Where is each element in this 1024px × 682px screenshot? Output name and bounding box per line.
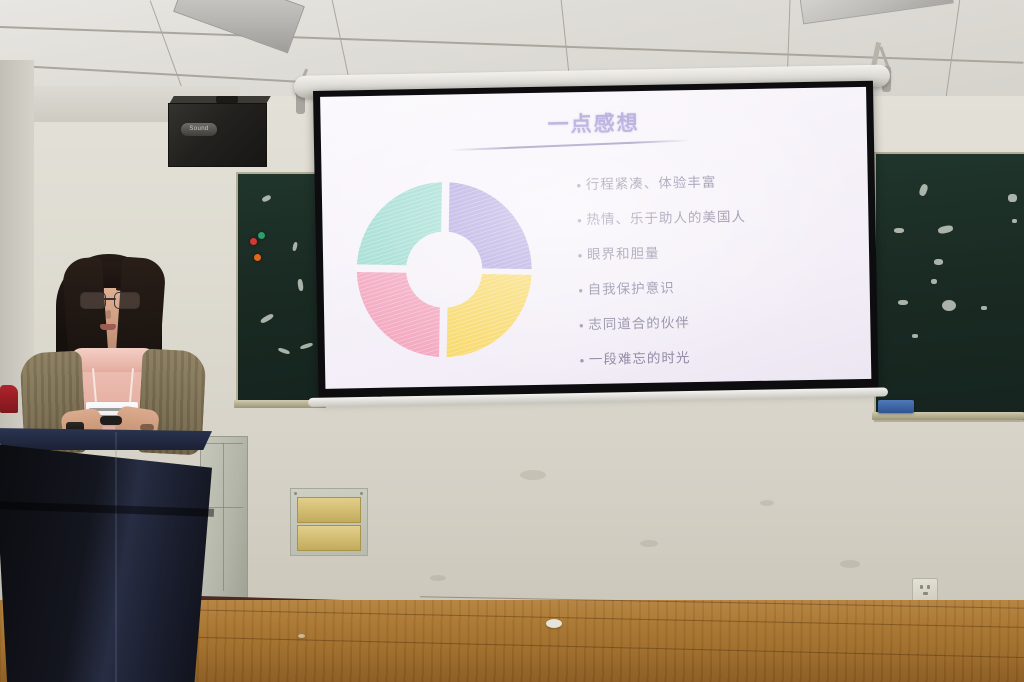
donut-segment-top-left xyxy=(355,179,443,267)
floor-seam xyxy=(120,635,1024,658)
bullet-text: 志同道合的伙伴 xyxy=(588,316,690,333)
chalk-mark xyxy=(260,313,275,324)
chalk-mark xyxy=(1012,219,1017,223)
chalk-mark xyxy=(894,228,904,233)
projection-screen-surface: 一点感想 xyxy=(320,87,871,389)
outlet-slot xyxy=(927,585,930,589)
chalk-mark xyxy=(931,279,937,284)
bullet-item: • 志同道合的伙伴 xyxy=(574,313,864,333)
chalk-mark xyxy=(918,183,929,197)
presenter-mouth xyxy=(100,324,116,330)
bullet-marker-icon: • xyxy=(572,178,586,193)
panel-screw xyxy=(294,492,297,495)
bullet-item: • 自我保护意识 xyxy=(574,278,864,298)
wall-smudge xyxy=(760,500,774,506)
donut-segment-bottom-right xyxy=(445,272,533,360)
wall-junction-box[interactable] xyxy=(290,488,368,556)
chalk-mark xyxy=(278,347,291,355)
chalk-mark xyxy=(898,300,908,305)
outlet-slot xyxy=(920,585,923,589)
donut-segment-bottom-left xyxy=(354,270,442,358)
bullet-marker-icon: • xyxy=(573,248,587,263)
bullet-marker-icon: • xyxy=(572,213,586,228)
podium-edge-highlight xyxy=(115,432,117,682)
projection-screen: 一点感想 xyxy=(313,81,879,400)
slide-bullet-list: • 行程紧凑、体验丰富 • 热情、乐于助人的美国人 • 眼界和胆量 • 自我保护… xyxy=(572,173,866,388)
chalk-mark xyxy=(261,194,271,202)
donut-chart xyxy=(348,173,541,366)
magnet-orange xyxy=(254,254,261,261)
podium xyxy=(0,444,212,682)
bullet-item: • 热情、乐于助人的美国人 xyxy=(572,208,862,228)
presenter-nose xyxy=(106,310,111,319)
board-eraser[interactable] xyxy=(878,400,914,413)
bullet-text: 热情、乐于助人的美国人 xyxy=(586,210,746,228)
bullet-item: • 眼界和胆量 xyxy=(573,243,863,263)
bullet-item: • 行程紧凑、体验丰富 xyxy=(572,173,862,193)
chalk-mark xyxy=(292,242,298,252)
speaker-mount xyxy=(216,96,238,103)
speaker-brand-badge: Sound xyxy=(181,123,217,136)
bullet-item: • 一段难忘的时光 xyxy=(575,348,865,368)
wall-smudge xyxy=(640,540,658,547)
presenter xyxy=(8,252,208,442)
chalk-mark xyxy=(981,306,987,310)
bullet-text: 行程紧凑、体验丰富 xyxy=(586,176,717,193)
classroom-presentation-scene: Sound 一点感想 xyxy=(0,0,1024,682)
chalk-mark xyxy=(1008,194,1017,202)
donut-chart-svg xyxy=(348,173,541,366)
chalk-tray-right xyxy=(872,412,1024,420)
junction-plate-lower xyxy=(297,525,361,551)
chalkboard-left xyxy=(236,172,326,408)
chalk-mark xyxy=(942,300,956,311)
bullet-text: 眼界和胆量 xyxy=(587,247,660,263)
slide: 一点感想 xyxy=(320,87,871,389)
magnet-red xyxy=(250,238,257,245)
floor-debris xyxy=(298,634,305,638)
donut-segment-top-right xyxy=(447,181,535,271)
cabinet-seam xyxy=(205,443,243,444)
junction-plate-upper xyxy=(297,497,361,523)
bracelet xyxy=(140,424,154,431)
slide-title-underline xyxy=(451,139,691,151)
magnet-green xyxy=(258,232,265,239)
chalk-mark xyxy=(300,342,314,350)
bullet-marker-icon: • xyxy=(575,353,589,368)
chalk-mark xyxy=(297,279,304,292)
bullet-text: 自我保护意识 xyxy=(588,281,675,298)
glasses-lens-left xyxy=(80,292,106,309)
podium-top-surface xyxy=(0,428,212,450)
wall-speaker xyxy=(168,103,267,167)
chalkboard-right xyxy=(874,152,1024,422)
bullet-marker-icon: • xyxy=(574,283,588,298)
chalk-mark xyxy=(937,225,953,235)
bullet-text: 一段难忘的时光 xyxy=(589,351,691,368)
wall-smudge xyxy=(430,575,446,581)
cabinet-seam xyxy=(223,443,224,591)
glasses-icon xyxy=(80,292,140,308)
red-object-on-podium xyxy=(0,385,18,413)
chalk-mark xyxy=(912,334,918,338)
outlet-slot xyxy=(923,592,928,595)
chalk-mark xyxy=(934,259,943,265)
wall-smudge xyxy=(520,470,546,480)
floor-debris xyxy=(546,619,562,628)
bullet-marker-icon: • xyxy=(574,318,588,333)
panel-screw xyxy=(360,492,363,495)
floor-seam xyxy=(180,609,1024,628)
presentation-clicker[interactable] xyxy=(100,416,122,425)
wall-smudge xyxy=(840,560,860,568)
glasses-lens-right xyxy=(114,292,140,309)
slide-title: 一点感想 xyxy=(320,103,866,143)
